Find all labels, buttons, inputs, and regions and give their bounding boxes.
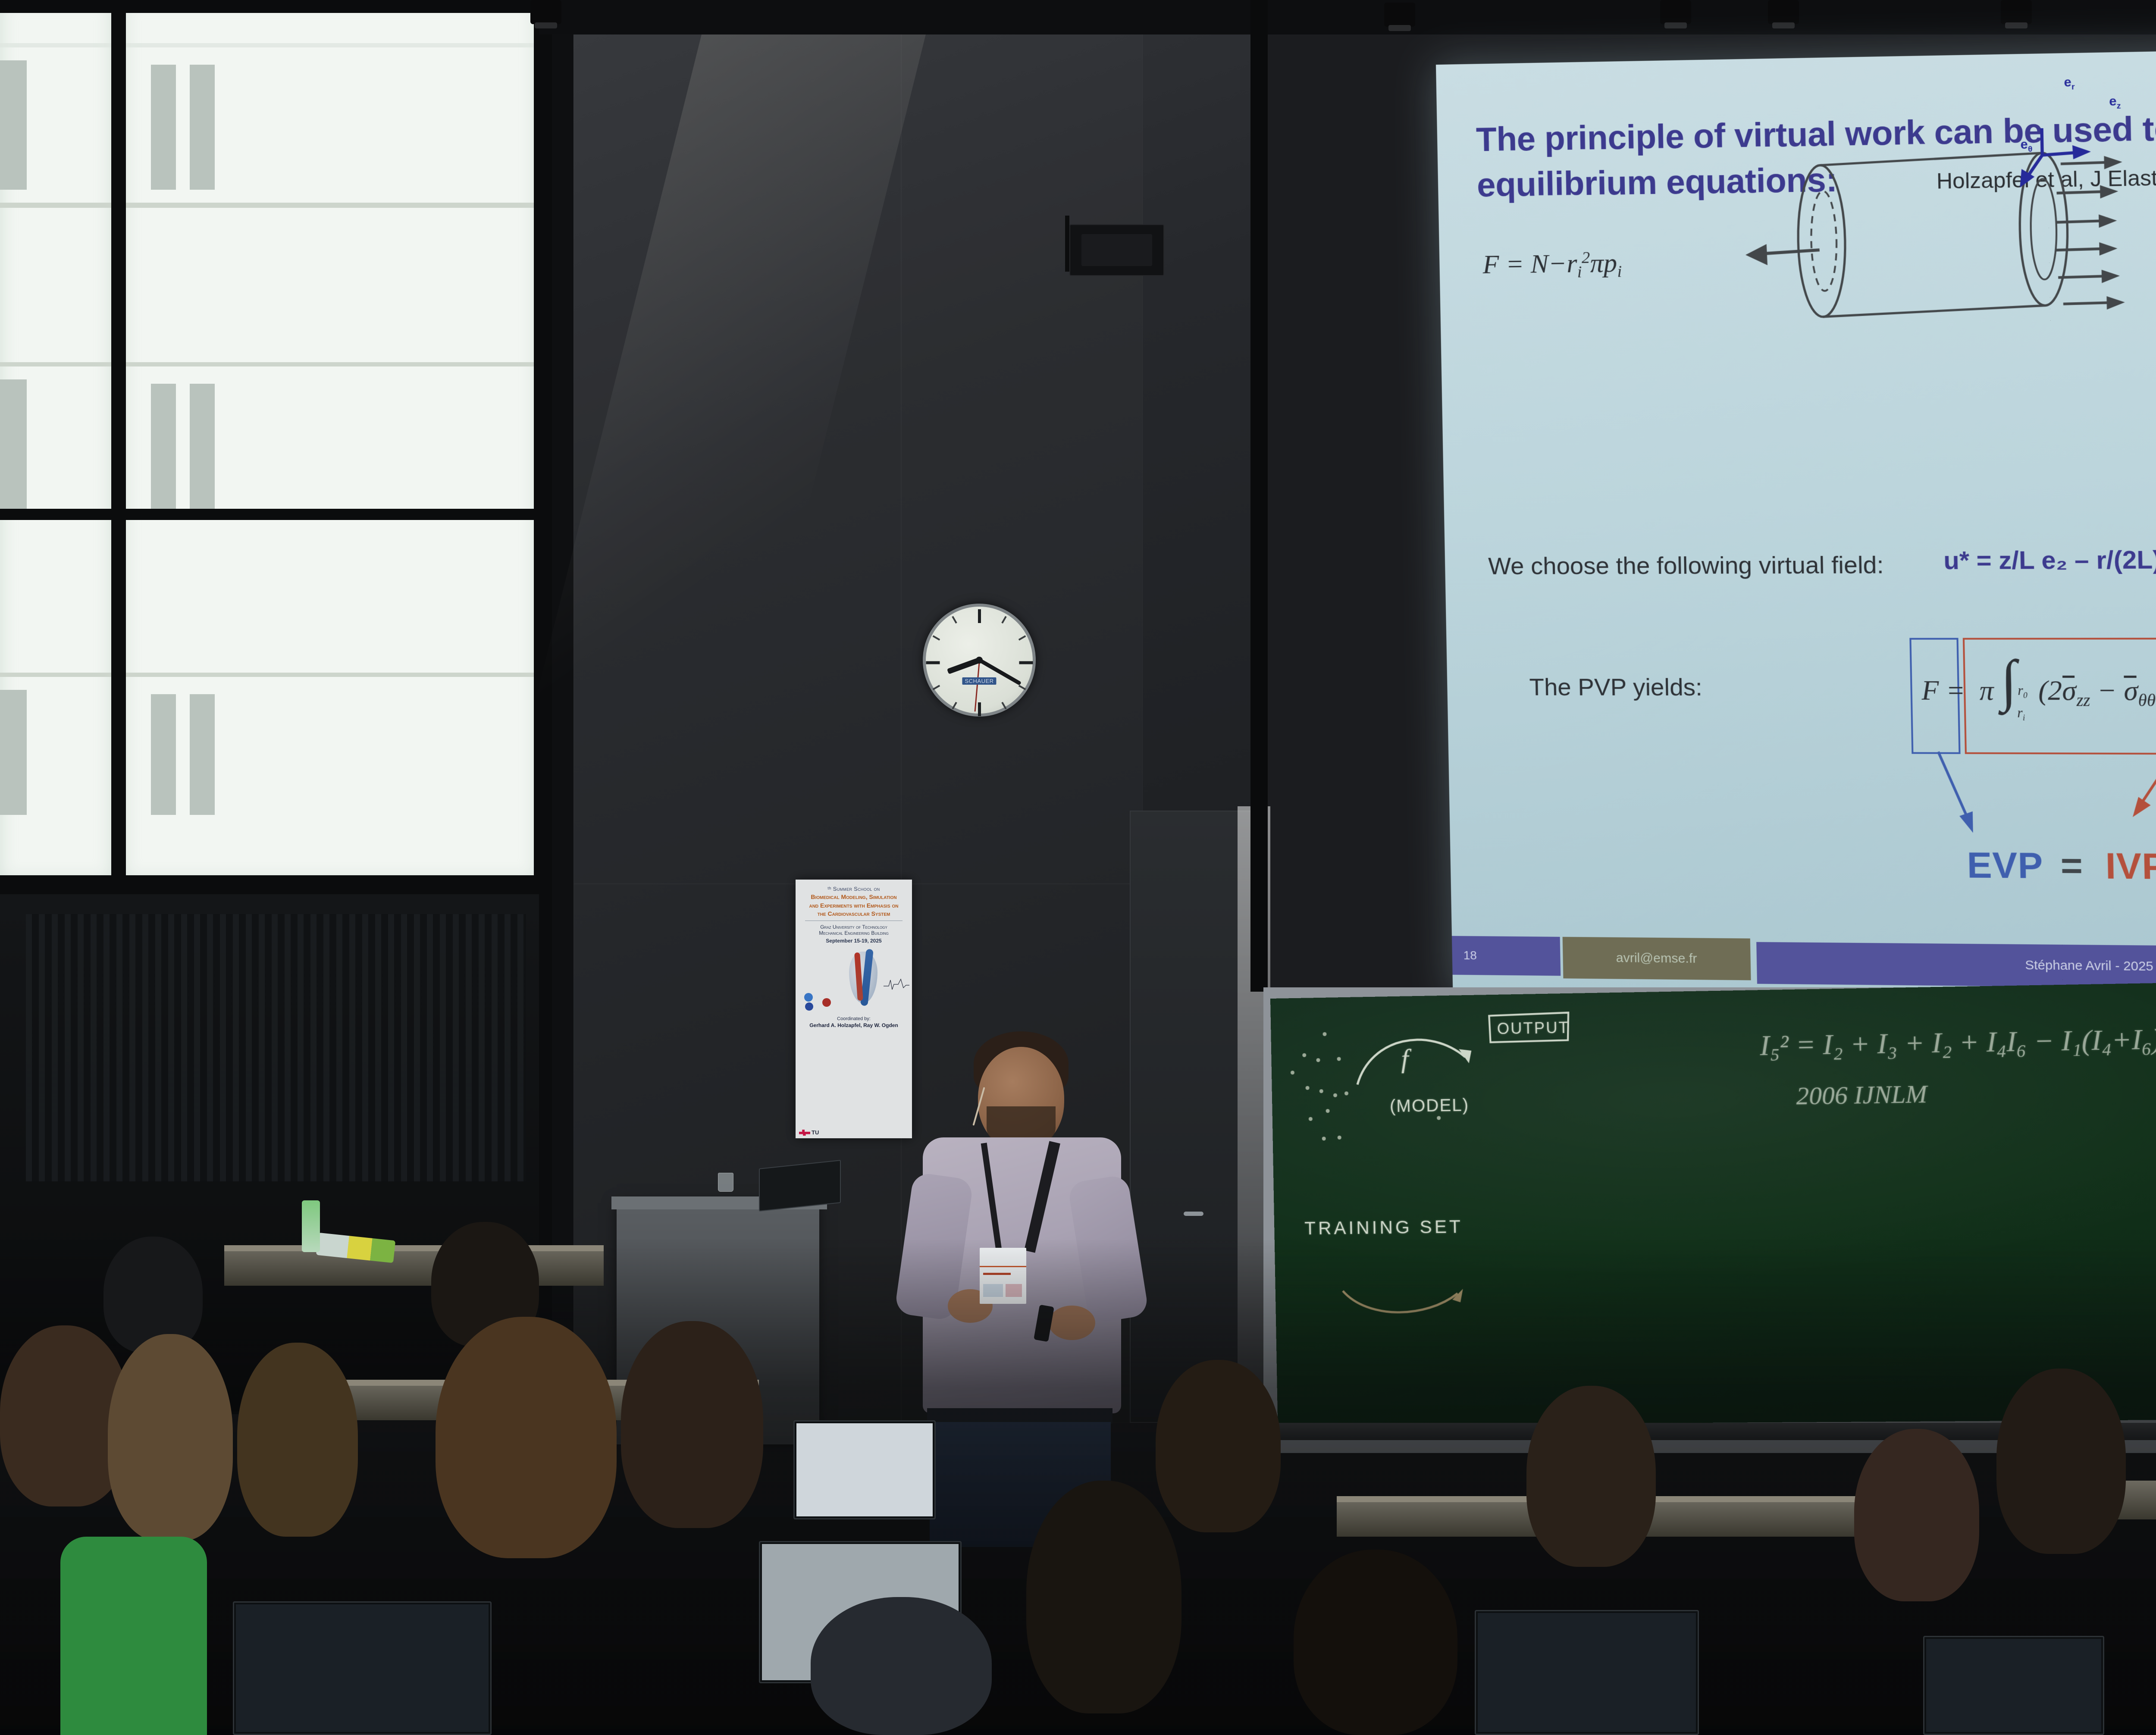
- clock-hour-hand: [946, 658, 980, 674]
- window-pane-upper-main: [123, 0, 537, 880]
- desk-edge: [1337, 1496, 1932, 1502]
- speaker-jeans: [930, 1422, 1111, 1547]
- blackboard-chalk-tray: [1263, 1423, 2156, 1440]
- poster-node-blue: [805, 1002, 813, 1011]
- window-frame-top: [0, 0, 556, 13]
- window-mullion-horizontal: [0, 875, 539, 894]
- exterior-building-ledge: [0, 362, 537, 366]
- water-glass: [718, 1173, 733, 1192]
- wall-clock: SCHAUER: [923, 604, 1036, 717]
- speaker-mount-arm: [1065, 216, 1069, 272]
- poster-venue-line-1: Graz University of Technology: [800, 924, 908, 930]
- box-connector-arrows: [1902, 747, 2156, 855]
- basis-vector-er-label: er: [2064, 75, 2075, 92]
- audience-green-shirt: [60, 1537, 207, 1735]
- slide-email-badge: avril@emse.fr: [1563, 937, 1751, 980]
- exterior-building-window: [190, 65, 215, 190]
- poster-coordinated-label: Coordinated by:: [798, 1016, 909, 1021]
- poster-title-line-1: Biomedical Modeling, Simulation: [800, 893, 908, 901]
- virtual-field-label: We choose the following virtual field:: [1488, 551, 1884, 580]
- speaker-belt: [927, 1408, 1112, 1424]
- exterior-building-window: [151, 694, 176, 815]
- audience-head: [1294, 1550, 1457, 1735]
- exterior-building-window: [0, 60, 27, 190]
- tu-graz-logo: TU: [799, 1130, 819, 1136]
- conference-badge: [980, 1248, 1026, 1304]
- poster-heart-illustration: [796, 948, 912, 1013]
- exterior-building-window: [0, 690, 27, 815]
- track-light: [530, 0, 561, 24]
- audience-head: [1854, 1429, 1979, 1601]
- wall-panel: [901, 0, 1143, 884]
- audience-laptop[interactable]: [1923, 1636, 2104, 1735]
- exterior-building-window: [0, 379, 27, 509]
- track-light: [1768, 0, 1799, 24]
- speaker: [862, 1026, 1173, 1544]
- poster-title-line-2: and Experiments with Emphasis on: [800, 902, 908, 909]
- poster-superscript-line: ᵗʰ Summer School on: [800, 886, 908, 892]
- lectern-laptop[interactable]: [759, 1160, 841, 1212]
- cylinder-tube-diagram: [1742, 126, 2156, 338]
- model-symbol-label: f: [1401, 1044, 1409, 1075]
- audience-laptop[interactable]: [233, 1601, 492, 1735]
- clock-brand-label: SCHAUER: [962, 677, 996, 685]
- window-mullion-vertical: [111, 0, 126, 897]
- window-wall: [0, 0, 573, 1414]
- exterior-building-window: [151, 384, 176, 509]
- model-label: (MODEL): [1390, 1096, 1470, 1116]
- pvp-label: The PVP yields:: [1529, 673, 1702, 701]
- tu-logo-text: TU: [812, 1130, 819, 1135]
- track-light: [1660, 0, 1691, 24]
- projection-screen-frame: [1250, 0, 1268, 992]
- exterior-building-window: [190, 694, 215, 815]
- poster-node-red: [822, 998, 831, 1007]
- exterior-building-ledge: [0, 673, 537, 677]
- evp-label: EVP: [1967, 844, 2044, 887]
- audience-laptop[interactable]: [759, 1541, 962, 1683]
- door-handle[interactable]: [1184, 1212, 1203, 1216]
- model-arrow: [1353, 1020, 1497, 1089]
- radiator-grill: [26, 914, 526, 1181]
- desk-row: [1337, 1498, 1932, 1537]
- track-light: [1384, 3, 1415, 27]
- poster-node-blue: [804, 993, 813, 1002]
- slide-number-badge: 18: [1452, 936, 1561, 976]
- wall-panel: [573, 0, 901, 884]
- clock-center-cap: [976, 657, 983, 664]
- poster-title-line-3: the Cardiovascular System: [800, 910, 908, 918]
- ceiling-strip: [539, 0, 2156, 34]
- poster-divider: [805, 921, 903, 921]
- invariants-equation: I₅² = I₂ + I₃ + I₂ + I₄I₆ − I₁(I₄+I₆): [1760, 1023, 2156, 1062]
- output-label: OUTPUT: [1497, 1018, 1570, 1038]
- exterior-building-ledge: [0, 43, 537, 47]
- basis-vector-ez-label: ez: [2109, 94, 2121, 111]
- lecture-hall-scene: SCHAUER ᵗʰ Summer School on Biomedical M…: [0, 0, 2156, 1735]
- track-light: [2001, 0, 2032, 24]
- projected-slide: The principle of virtual work can be use…: [1436, 43, 2156, 1009]
- audience-laptop[interactable]: [1475, 1610, 1699, 1735]
- poster-dates: September 15-19, 2025: [800, 938, 908, 944]
- audience-head: [811, 1597, 992, 1735]
- bottom-curve-arrow: [1340, 1281, 1476, 1323]
- training-set-label: TRAINING SET: [1304, 1216, 1463, 1239]
- ecg-trace-icon: [884, 977, 909, 991]
- tu-cross-icon: [799, 1130, 810, 1136]
- window-mullion-horizontal: [0, 509, 539, 520]
- exterior-building-window: [190, 384, 215, 509]
- blackboard: f (MODEL) OUTPUT TRAINING SET I₅² = I₂ +…: [1270, 974, 2156, 1425]
- desk-row: [2070, 1481, 2156, 1519]
- wall-speaker: [1069, 224, 1164, 276]
- speaker-right-hand: [1049, 1306, 1095, 1340]
- lectern: [617, 1203, 819, 1444]
- exterior-building-window: [151, 65, 176, 190]
- poster-venue-line-2: Mechanical Engineering Building: [800, 930, 908, 936]
- pvp-equation: F = π ∫r0ri (2σzz − σθθ − σrr)r dr: [1921, 665, 2156, 711]
- virtual-field-value: u* = z/L e₂ – r/(2L) eᵣ: [1943, 545, 2156, 575]
- exterior-building-ledge: [0, 203, 537, 208]
- ivp-label: IVP: [2105, 845, 2156, 888]
- axial-force-equation: F = N−ri2πpi: [1482, 248, 1622, 283]
- evp-ivp-equals: =: [2060, 844, 2084, 887]
- invariants-reference: 2006 IJNLM: [1796, 1079, 1927, 1111]
